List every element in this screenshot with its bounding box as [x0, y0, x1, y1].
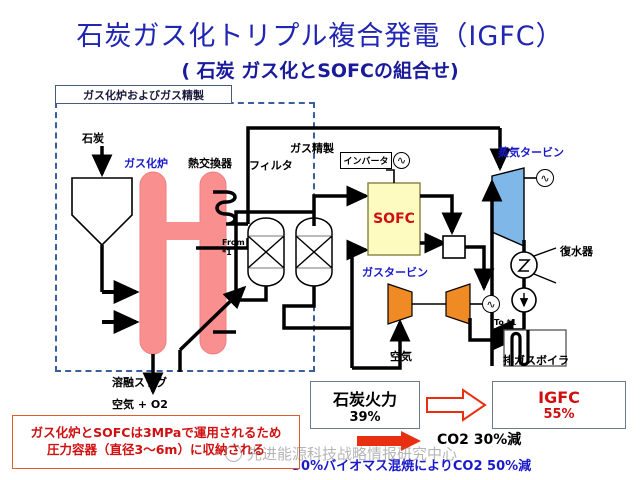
gas-turbine-generator-icon: ∿ [482, 295, 500, 313]
igfc-value: 55% [543, 407, 574, 422]
label-gas-turbine: ガスタービン [362, 264, 428, 280]
label-steam-turbine: 蒸気タービン [498, 144, 564, 160]
co2-reduction-label: CO2 30%減 [437, 429, 521, 449]
sofc-block: SOFC [368, 183, 420, 255]
note-line-1: ガス化炉とSOFCは3MPaで運用されるため [31, 425, 282, 442]
pressure-vessel-note: ガス化炉とSOFCは3MPaで運用されるため 圧力容器（直径3〜6m）に収納され… [12, 415, 300, 469]
comparison-arrow-2 [357, 430, 423, 452]
label-air-o2: 空気 + O2 [112, 396, 168, 412]
label-molten-slag: 溶融スラグ [112, 374, 167, 390]
note-line-2: 圧力容器（直径3〜6m）に収納される [47, 442, 265, 459]
biomass-note-label: 30%バイオマス混焼によりCO2 50%減 [292, 455, 531, 474]
label-coal: 石炭 [82, 130, 104, 146]
steam-turbine-generator-icon: ∿ [536, 169, 554, 187]
label-to-ref: To *1 [494, 318, 516, 327]
inverter-generator-icon: ∿ [393, 152, 410, 169]
igfc-name: IGFC [538, 388, 580, 407]
label-condenser: 復水器 [560, 243, 593, 259]
label-gasifier: ガス化炉 [124, 155, 168, 171]
comparison-arrow-1 [425, 388, 489, 422]
sofc-label: SOFC [373, 211, 415, 227]
coal-power-name: 石炭火力 [333, 386, 397, 410]
inverter-label: インバータ [343, 154, 388, 167]
efficiency-box-igfc: IGFC 55% [492, 381, 626, 429]
label-exhaust-boiler: 排ガスボイラ [503, 352, 569, 368]
inverter-box: インバータ [340, 152, 392, 169]
efficiency-box-coal-power: 石炭火力 39% [310, 381, 420, 429]
label-filter: フィルタ [249, 157, 293, 173]
slide-canvas: 石炭ガス化トリプル複合発電（IGFC） ( 石炭 ガス化とSOFCの組合せ) ガ… [0, 0, 640, 480]
coal-power-value: 39% [349, 410, 380, 425]
label-from-ref: From *1 [222, 238, 244, 258]
label-gas-cleanup: ガス精製 [290, 140, 334, 156]
label-air-gas-turbine: 空気 [390, 348, 412, 364]
label-heat-exchanger: 熱交換器 [188, 155, 232, 171]
